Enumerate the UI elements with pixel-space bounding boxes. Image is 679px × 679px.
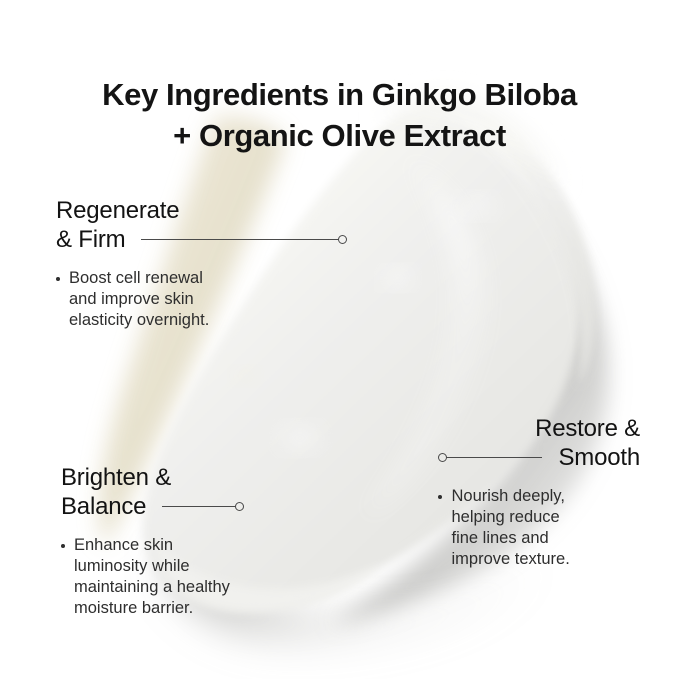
list-item: Enhance skin luminosity while maintainin… [61,535,244,619]
connector-rule [162,506,236,507]
bullet-dot-icon [438,495,442,499]
page-title: Key Ingredients in Ginkgo Biloba + Organ… [0,74,679,156]
connector-line-brighten [146,492,244,521]
callout-heading-row: & Firm [56,225,347,254]
infographic-canvas: Key Ingredients in Ginkgo Biloba + Organ… [0,0,679,679]
list-item: Nourish deeply, helping reduce fine line… [438,486,640,570]
bullet-text: Boost cell renewal and improve skin elas… [69,268,209,331]
title-line-1: Key Ingredients in Ginkgo Biloba [0,74,679,115]
callout-heading-line-2: Smooth [558,443,640,472]
callout-regenerate-and-firm: Regenerate & Firm Boost cell renewal and… [56,196,347,331]
title-line-2: + Organic Olive Extract [0,115,679,156]
connector-line-restore [438,443,558,472]
callout-restore-and-smooth: Restore & Smooth Nourish deeply, helping… [438,414,640,570]
connector-rule [446,457,542,458]
callout-heading-row: Smooth [438,443,640,472]
bullet-dot-icon [61,544,65,548]
connector-endpoint-icon [338,235,347,244]
callout-heading-line-2: & Firm [56,225,125,254]
bullet-text: Enhance skin luminosity while maintainin… [74,535,230,619]
callout-heading-row: Balance [61,492,244,521]
connector-rule [141,239,339,240]
bullet-dot-icon [56,277,60,281]
list-item: Boost cell renewal and improve skin elas… [56,268,347,331]
callout-heading-line-1: Regenerate [56,196,347,225]
bullet-text: Nourish deeply, helping reduce fine line… [451,486,569,570]
connector-line-regenerate [125,225,347,254]
callout-heading-line-1: Brighten & [61,463,244,492]
callout-brighten-and-balance: Brighten & Balance Enhance skin luminosi… [61,463,244,619]
bullet-list-brighten: Enhance skin luminosity while maintainin… [61,535,244,619]
callout-heading-line-2: Balance [61,492,146,521]
bullet-list-regenerate: Boost cell renewal and improve skin elas… [56,268,347,331]
bullet-list-restore: Nourish deeply, helping reduce fine line… [438,486,640,570]
connector-endpoint-icon [235,502,244,511]
callout-heading-line-1: Restore & [438,414,640,443]
